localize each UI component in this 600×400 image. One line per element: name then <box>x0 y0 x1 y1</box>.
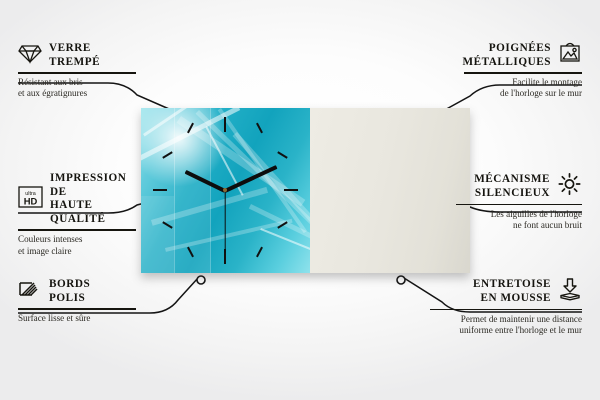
feature-desc-line1: Résistant aux bris <box>18 77 83 87</box>
feature-desc-line1: Surface lisse et sûre <box>18 313 90 323</box>
feature-entretoise-en-mousse: ENTRETOISE EN MOUSSE Permet de maintenir… <box>430 278 582 337</box>
divider <box>18 308 136 309</box>
divider <box>456 204 582 205</box>
connector-dot-entretoise <box>397 276 405 284</box>
feature-title-line2: POLIS <box>49 292 85 304</box>
hour-marker <box>153 189 167 191</box>
gear-icon <box>557 172 582 201</box>
feature-desc-line2: et image claire <box>18 246 72 256</box>
feature-title-line1: IMPRESSION DE <box>50 172 126 198</box>
feature-poignees-metalliques: POIGNÉES MÉTALLIQUES Facilite le montage… <box>464 42 582 100</box>
ultra-hd-big-text: HD <box>24 195 38 206</box>
hour-marker <box>256 123 263 134</box>
feature-title-line2: MÉTALLIQUES <box>462 56 551 68</box>
product-photo <box>141 108 470 273</box>
hanging-frame-icon <box>558 42 582 69</box>
infographic-canvas: VERRE TREMPÉ Résistant aux bris et aux é… <box>0 0 600 400</box>
feature-desc-line2: de l'horloge sur le mur <box>500 88 582 98</box>
ultra-hd-icon: ultra HD <box>18 186 43 213</box>
feature-desc-line1: Facilite le montage <box>512 77 582 87</box>
feature-desc-line1: Les aiguilles de l'horloge <box>491 209 582 219</box>
hand-cap <box>223 188 227 192</box>
feature-desc-line2: ne font aucun bruit <box>513 220 582 230</box>
second-hand <box>224 191 225 253</box>
feature-title-line1: MÉCANISME <box>474 173 550 185</box>
feature-desc-line2: uniforme entre l'horloge et le mur <box>459 325 582 335</box>
clock-face <box>141 108 312 273</box>
hour-marker <box>284 189 298 191</box>
feature-impression-haute-qualite: ultra HD IMPRESSION DE HAUTE QUALITÉ Cou… <box>18 172 136 257</box>
feature-desc-line1: Permet de maintenir une distance <box>461 314 582 324</box>
hour-marker <box>224 117 226 132</box>
feature-title-line1: VERRE <box>49 42 91 54</box>
hour-marker <box>277 151 287 158</box>
feature-desc-line2: et aux égratignures <box>18 88 87 98</box>
divider <box>464 72 582 73</box>
feature-title-line1: ENTRETOISE <box>473 278 551 290</box>
polished-edges-icon <box>18 279 42 305</box>
feature-bords-polis: BORDS POLIS Surface lisse et sûre <box>18 278 136 324</box>
divider <box>430 309 582 310</box>
hour-marker <box>256 247 263 258</box>
feature-title-line1: POIGNÉES <box>489 42 551 54</box>
wall-panel <box>310 108 470 273</box>
feature-verre-trempe: VERRE TREMPÉ Résistant aux bris et aux é… <box>18 42 136 100</box>
feature-title-line1: BORDS <box>49 278 90 290</box>
feature-desc-line1: Couleurs intenses <box>18 234 82 244</box>
divider <box>18 72 136 73</box>
feature-title-line2: EN MOUSSE <box>480 292 551 304</box>
divider <box>18 229 136 230</box>
diamond-icon <box>18 43 42 69</box>
feature-title-line2: HAUTE QUALITÉ <box>50 199 105 225</box>
foam-spacer-arrow-icon <box>558 278 582 306</box>
feature-mecanisme-silencieux: MÉCANISME SILENCIEUX Les aiguilles de l'… <box>456 172 582 232</box>
feature-title-line2: SILENCIEUX <box>475 187 550 199</box>
connector-dot-bords-polis <box>197 276 205 284</box>
feature-title-line2: TREMPÉ <box>49 56 100 68</box>
